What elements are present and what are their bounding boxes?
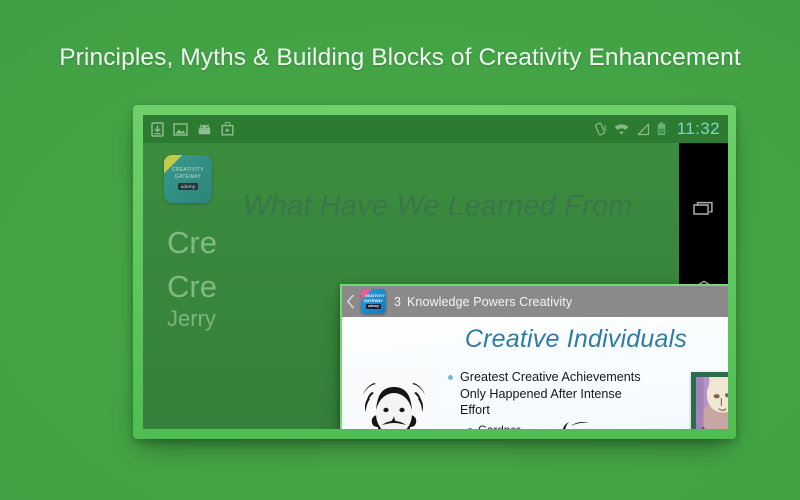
background-app-icon: CREATIVITY GATEWAY udemy <box>164 155 212 203</box>
popup-app-icon[interactable]: CREATIVITY GATEWAY udemy <box>361 289 386 314</box>
status-bar-right-icons: 11:32 <box>593 119 720 139</box>
app-icon-line1: CREATIVITY <box>172 168 204 174</box>
download-icon <box>151 122 164 137</box>
einstein-portrait <box>352 370 436 429</box>
background-slide-heading: What Have We Learned From <box>243 190 633 223</box>
gandhi-portrait <box>538 417 628 429</box>
picasso-artwork: PABLO PICASSO "LA LETTURA" Boisgeloup, 2… <box>691 372 728 429</box>
status-bar-clock: 11:32 <box>677 119 720 139</box>
picasso-painting <box>696 377 728 429</box>
vibrate-icon <box>593 122 607 136</box>
android-icon <box>197 124 212 135</box>
page-background: Principles, Myths & Building Blocks of C… <box>0 0 800 500</box>
wifi-icon <box>614 123 629 136</box>
lecture-title: Knowledge Powers Creativity <box>407 295 728 309</box>
picasso-canvas <box>696 377 728 429</box>
background-title-line1: Cre <box>167 221 675 265</box>
bullet-sub-text: Gardner <box>478 423 521 429</box>
play-store-icon <box>221 122 234 136</box>
popup-app-bar: CREATIVITY GATEWAY udemy 3 Knowledge Pow… <box>342 286 728 317</box>
bullet-primary: Greatest Creative Achievements Only Happ… <box>448 369 648 419</box>
tablet-screen: CREATIVITY GATEWAY udemy Cre Cre Jerry W… <box>143 115 728 429</box>
popup-inner: CREATIVITY GATEWAY udemy 3 Knowledge Pow… <box>342 286 728 429</box>
slide-title: Creative Individuals <box>342 325 728 354</box>
slide-content: Creative Individuals <box>342 317 728 429</box>
background-subtitle: Jerry <box>167 306 216 332</box>
status-bar: 11:32 <box>143 115 728 143</box>
presentation-popup-window: CREATIVITY GATEWAY udemy 3 Knowledge Pow… <box>340 284 728 429</box>
photo-icon <box>173 123 188 136</box>
app-icon-badge: udemy <box>366 304 381 309</box>
app-icon-badge: udemy <box>178 183 199 190</box>
bullet-dot-icon <box>448 375 453 380</box>
recents-icon[interactable] <box>693 201 715 219</box>
app-icon-line2: GATEWAY <box>175 175 201 181</box>
bullet-dot-icon <box>468 428 472 429</box>
tablet-device: CREATIVITY GATEWAY udemy Cre Cre Jerry W… <box>133 105 736 439</box>
signal-icon <box>636 123 650 136</box>
battery-icon <box>657 122 666 136</box>
app-icon-line2: GATEWAY <box>364 299 383 303</box>
status-bar-left-icons <box>151 122 234 137</box>
lecture-number: 3 <box>394 295 401 309</box>
page-title: Principles, Myths & Building Blocks of C… <box>0 44 800 72</box>
bullet-primary-text: Greatest Creative Achievements Only Happ… <box>460 369 648 419</box>
chevron-left-icon[interactable] <box>346 294 355 309</box>
